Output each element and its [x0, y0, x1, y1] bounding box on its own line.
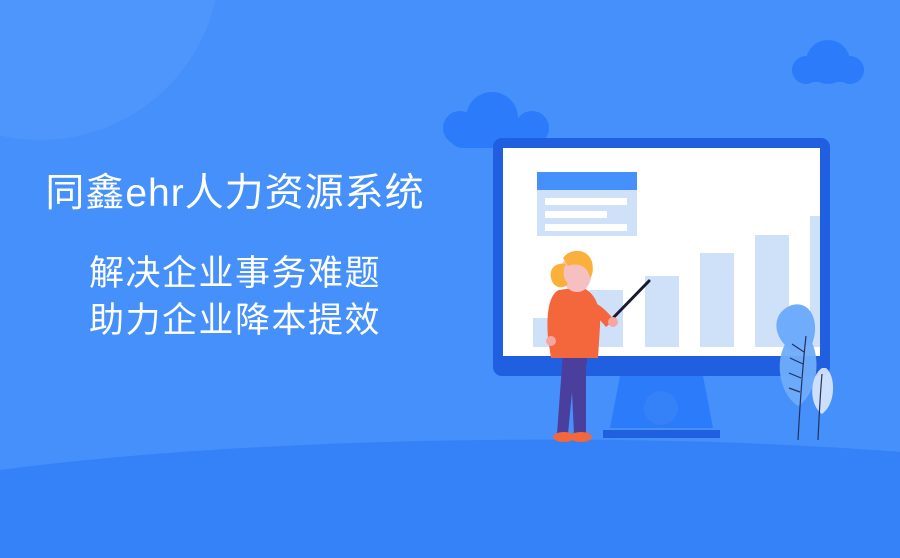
- promo-banner: 同鑫ehr人力资源系统 解决企业事务难题 助力企业降本提效: [0, 0, 900, 558]
- bar-4: [700, 253, 734, 347]
- subheadline-line-1: 解决企业事务难题: [0, 250, 470, 297]
- page-title: 同鑫ehr人力资源系统: [0, 168, 470, 220]
- monitor-stand-base: [603, 430, 720, 438]
- text-block: 同鑫ehr人力资源系统 解决企业事务难题 助力企业降本提效: [0, 168, 470, 344]
- subheadline: 解决企业事务难题 助力企业降本提效: [0, 250, 470, 344]
- person-shoe-right: [570, 432, 592, 442]
- screen-card: [537, 172, 637, 236]
- person-hand-right: [608, 317, 618, 327]
- subheadline-line-2: 助力企业降本提效: [0, 297, 470, 344]
- person-hand-left: [546, 336, 556, 346]
- bar-3: [645, 276, 679, 347]
